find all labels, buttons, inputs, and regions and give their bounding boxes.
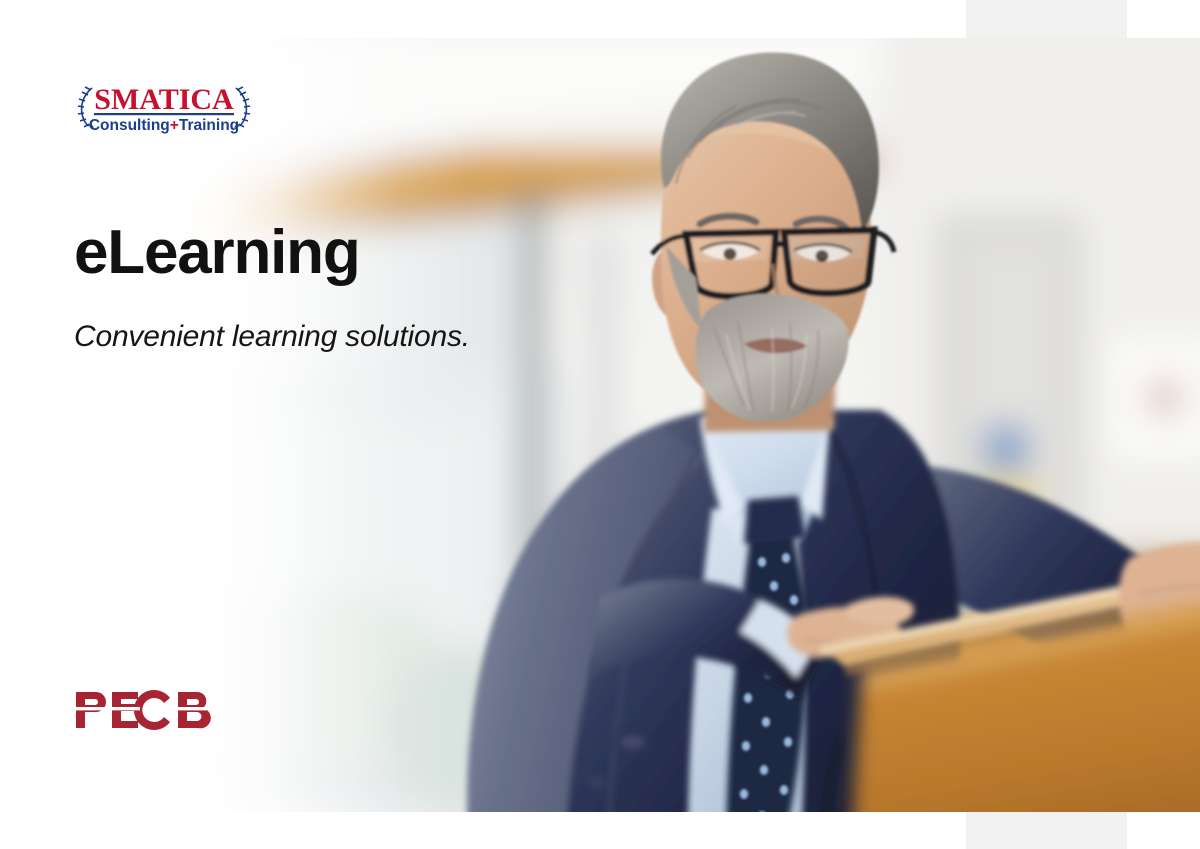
grey-band-top (966, 0, 1127, 38)
smatica-tagline: Consulting+Training (89, 117, 239, 134)
pecb-logo (74, 688, 214, 736)
smatica-logo: SMATICA Consulting+Training (74, 80, 254, 140)
grey-band-bottom (966, 812, 1127, 849)
page-subtitle: Convenient learning solutions. (74, 320, 634, 354)
logo-divider (94, 113, 234, 115)
cover-page: SMATICA Consulting+Training eLearning Co… (0, 0, 1200, 849)
smatica-wordmark: SMATICA (94, 83, 234, 116)
page-title: eLearning (74, 222, 634, 284)
headline-block: eLearning Convenient learning solutions. (74, 222, 634, 354)
